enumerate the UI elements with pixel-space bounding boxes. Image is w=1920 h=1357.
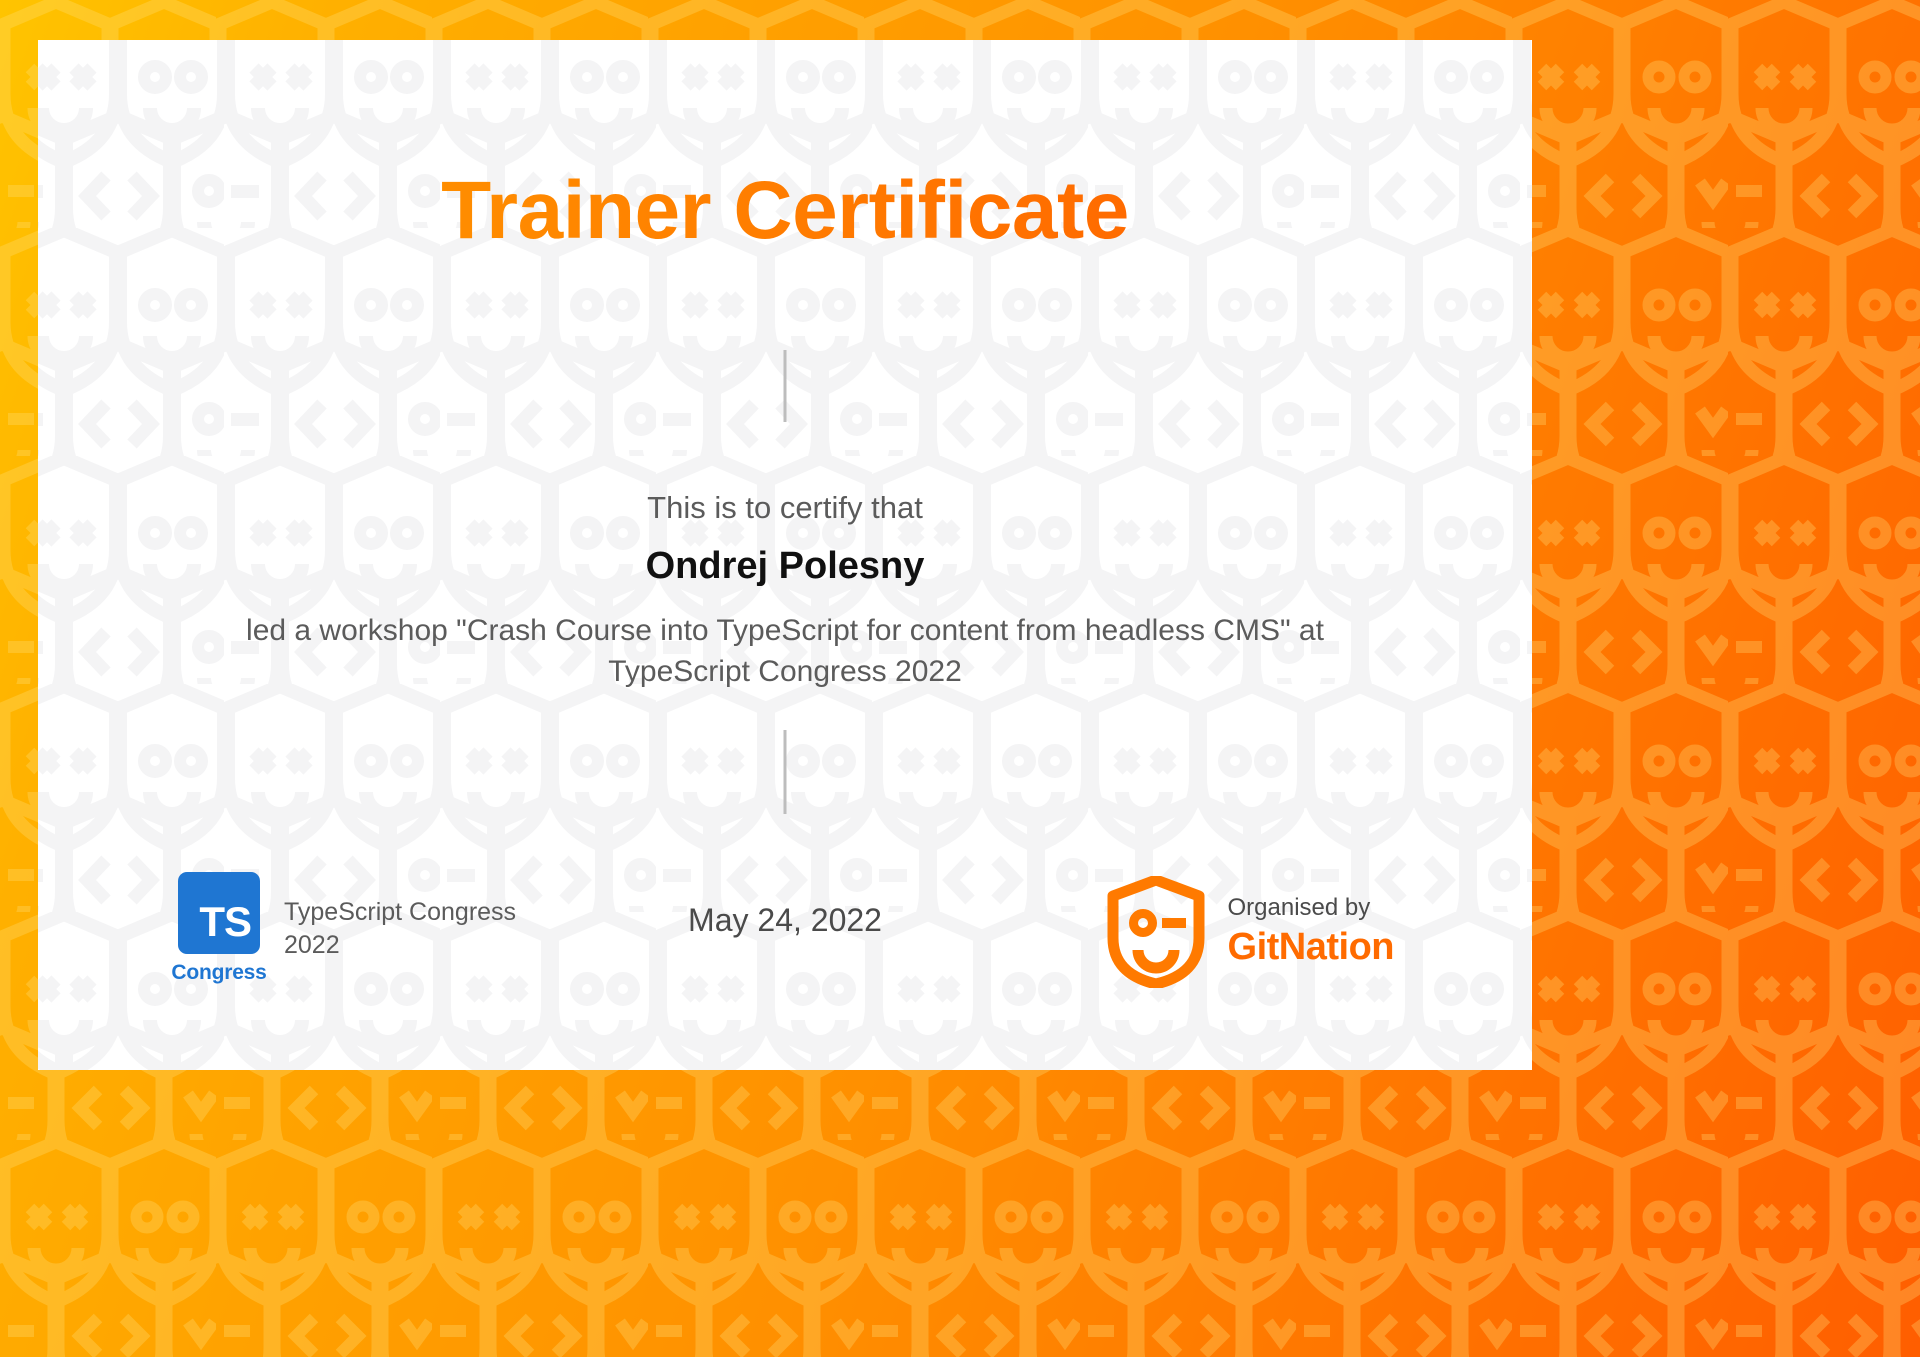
gitnation-shield-mask-icon (1106, 876, 1206, 988)
ts-logo-sublabel: Congress (171, 961, 266, 985)
page-title: Trainer Certificate (38, 168, 1532, 254)
certificate: Trainer Certificate This is to certify t… (0, 0, 1920, 1357)
organised-by-label: Organised by (1228, 894, 1394, 922)
organiser-name: GitNation (1228, 926, 1394, 970)
organiser-block: Organised by GitNation (1106, 876, 1394, 988)
organiser-text: Organised by GitNation (1228, 894, 1394, 969)
achievement-text: led a workshop "Crash Course into TypeSc… (178, 610, 1392, 692)
certify-line: This is to certify that (38, 490, 1532, 526)
recipient-name: Ondrej Polesny (38, 545, 1532, 588)
certificate-card: Trainer Certificate This is to certify t… (38, 40, 1532, 1070)
certificate-footer: TS Congress TypeScript Congress 2022 May… (38, 872, 1532, 992)
divider-top (784, 350, 787, 422)
divider-bottom (784, 730, 787, 814)
